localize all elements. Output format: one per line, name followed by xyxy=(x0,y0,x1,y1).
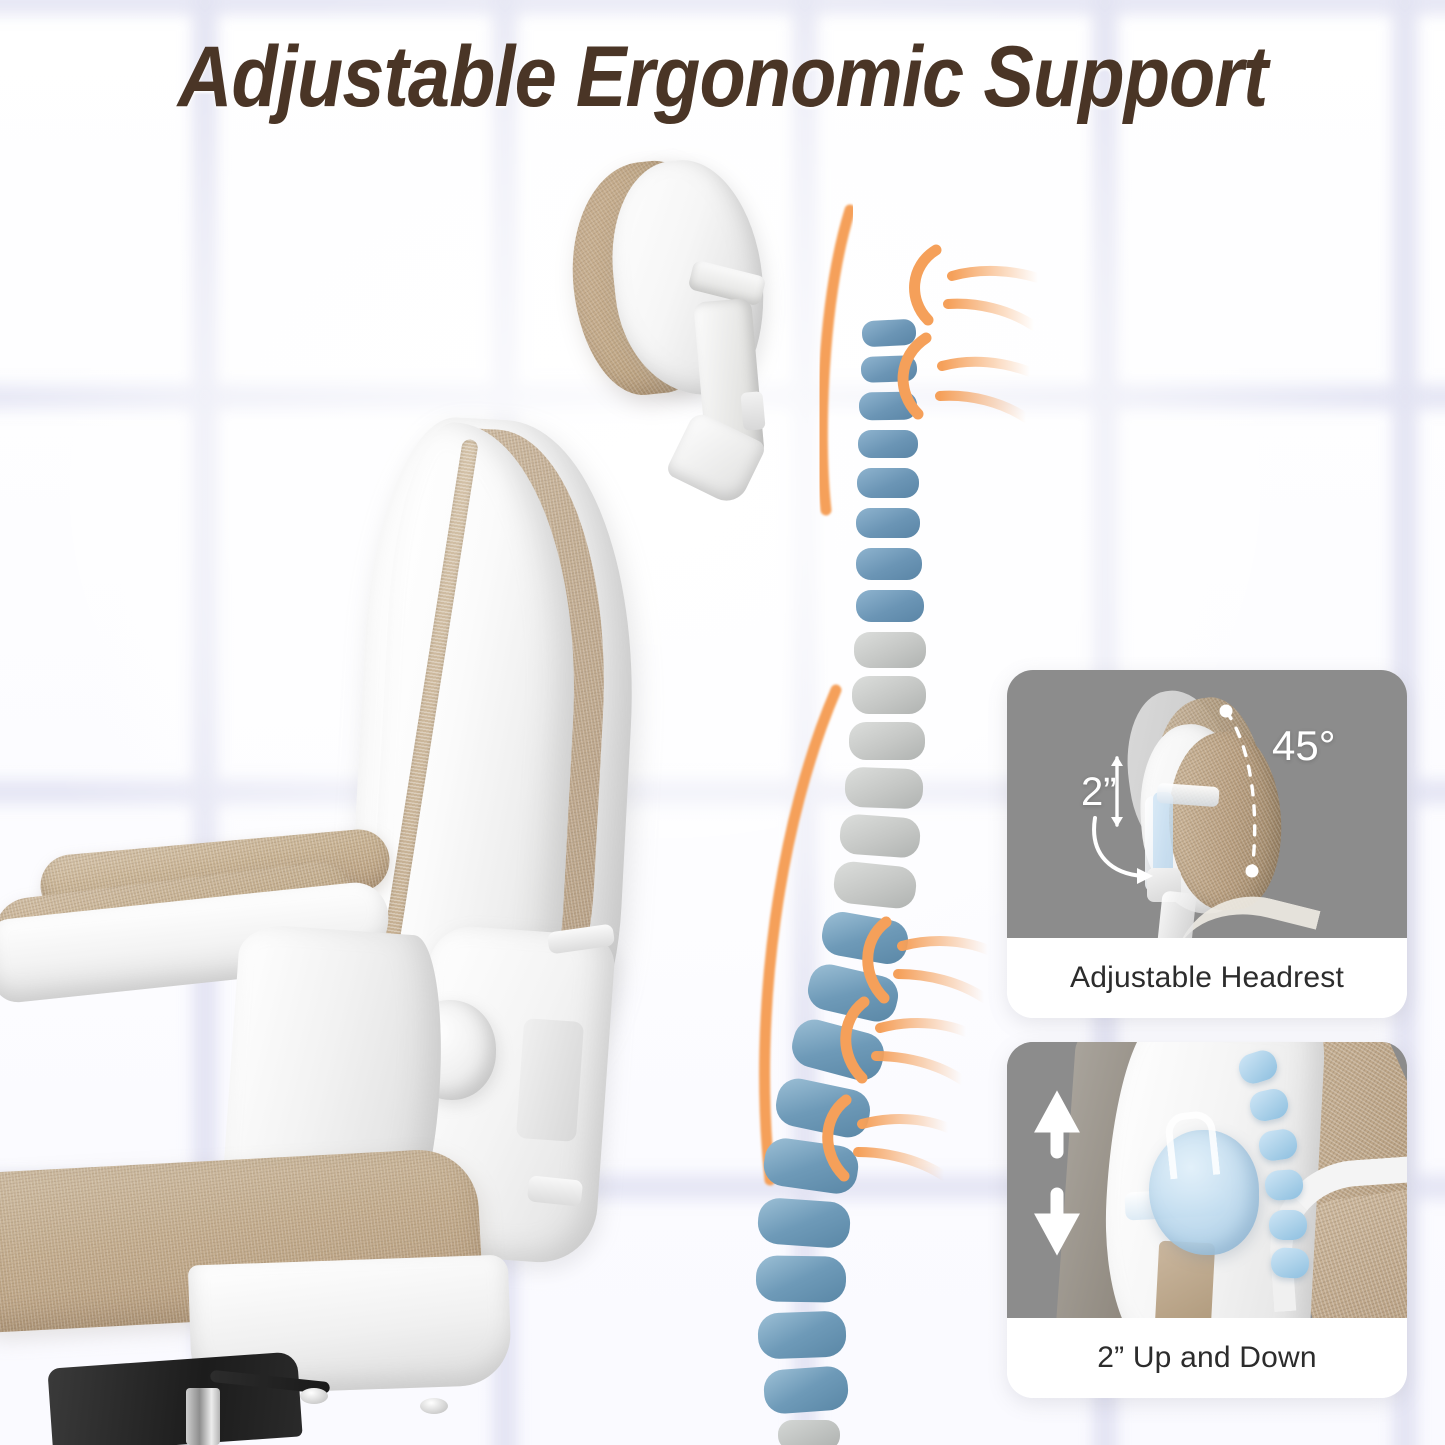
headrest-photo: 45° 2” xyxy=(1007,670,1407,938)
inset-caption-headrest: Adjustable Headrest xyxy=(1007,938,1407,1018)
clip-pointer-head xyxy=(1137,868,1153,884)
gas-lift-stem xyxy=(186,1388,220,1445)
tilt-arc-dot-bottom xyxy=(1246,865,1259,878)
inset-card-headrest[interactable]: 45° 2” Adjustable Headrest xyxy=(1007,670,1407,1018)
down-arrow xyxy=(1045,1194,1069,1242)
cervical-vertebrae xyxy=(856,319,924,622)
spine-illustration xyxy=(640,180,1040,1260)
tilt-arc-dashed xyxy=(1226,711,1255,870)
lumbar-photo xyxy=(1007,1042,1407,1318)
lumbar-tab-lower xyxy=(527,1175,583,1207)
lumbar-slider-bar xyxy=(516,1018,584,1142)
height-arrow-head-down xyxy=(1111,817,1123,827)
pressure-mark-upper-2 xyxy=(903,338,1030,418)
tilt-arc-dot-top xyxy=(1220,705,1233,718)
pressure-mark-upper-1 xyxy=(915,250,1038,326)
thoracic-vertebrae xyxy=(832,632,926,910)
inset-card-lumbar[interactable]: 2” Up and Down xyxy=(1007,1042,1407,1398)
headrest-annotations xyxy=(1007,670,1407,938)
inset-caption-lumbar: 2” Up and Down xyxy=(1007,1318,1407,1398)
base-mechanism xyxy=(47,1351,302,1445)
seat-glide-right xyxy=(420,1398,448,1414)
height-arrow-head-up xyxy=(1111,756,1123,766)
tilt-angle-label: 45° xyxy=(1272,722,1336,770)
clip-pointer-arc xyxy=(1094,818,1143,876)
cervical-support-curve xyxy=(822,210,850,510)
seat-glide-left xyxy=(300,1388,328,1404)
height-travel-label: 2” xyxy=(1081,770,1117,815)
product-feature-image: Adjustable Ergonomic Support xyxy=(0,0,1445,1445)
lumbar-annotations xyxy=(1007,1042,1407,1318)
up-arrow xyxy=(1045,1104,1069,1152)
sacrum xyxy=(778,1420,840,1445)
